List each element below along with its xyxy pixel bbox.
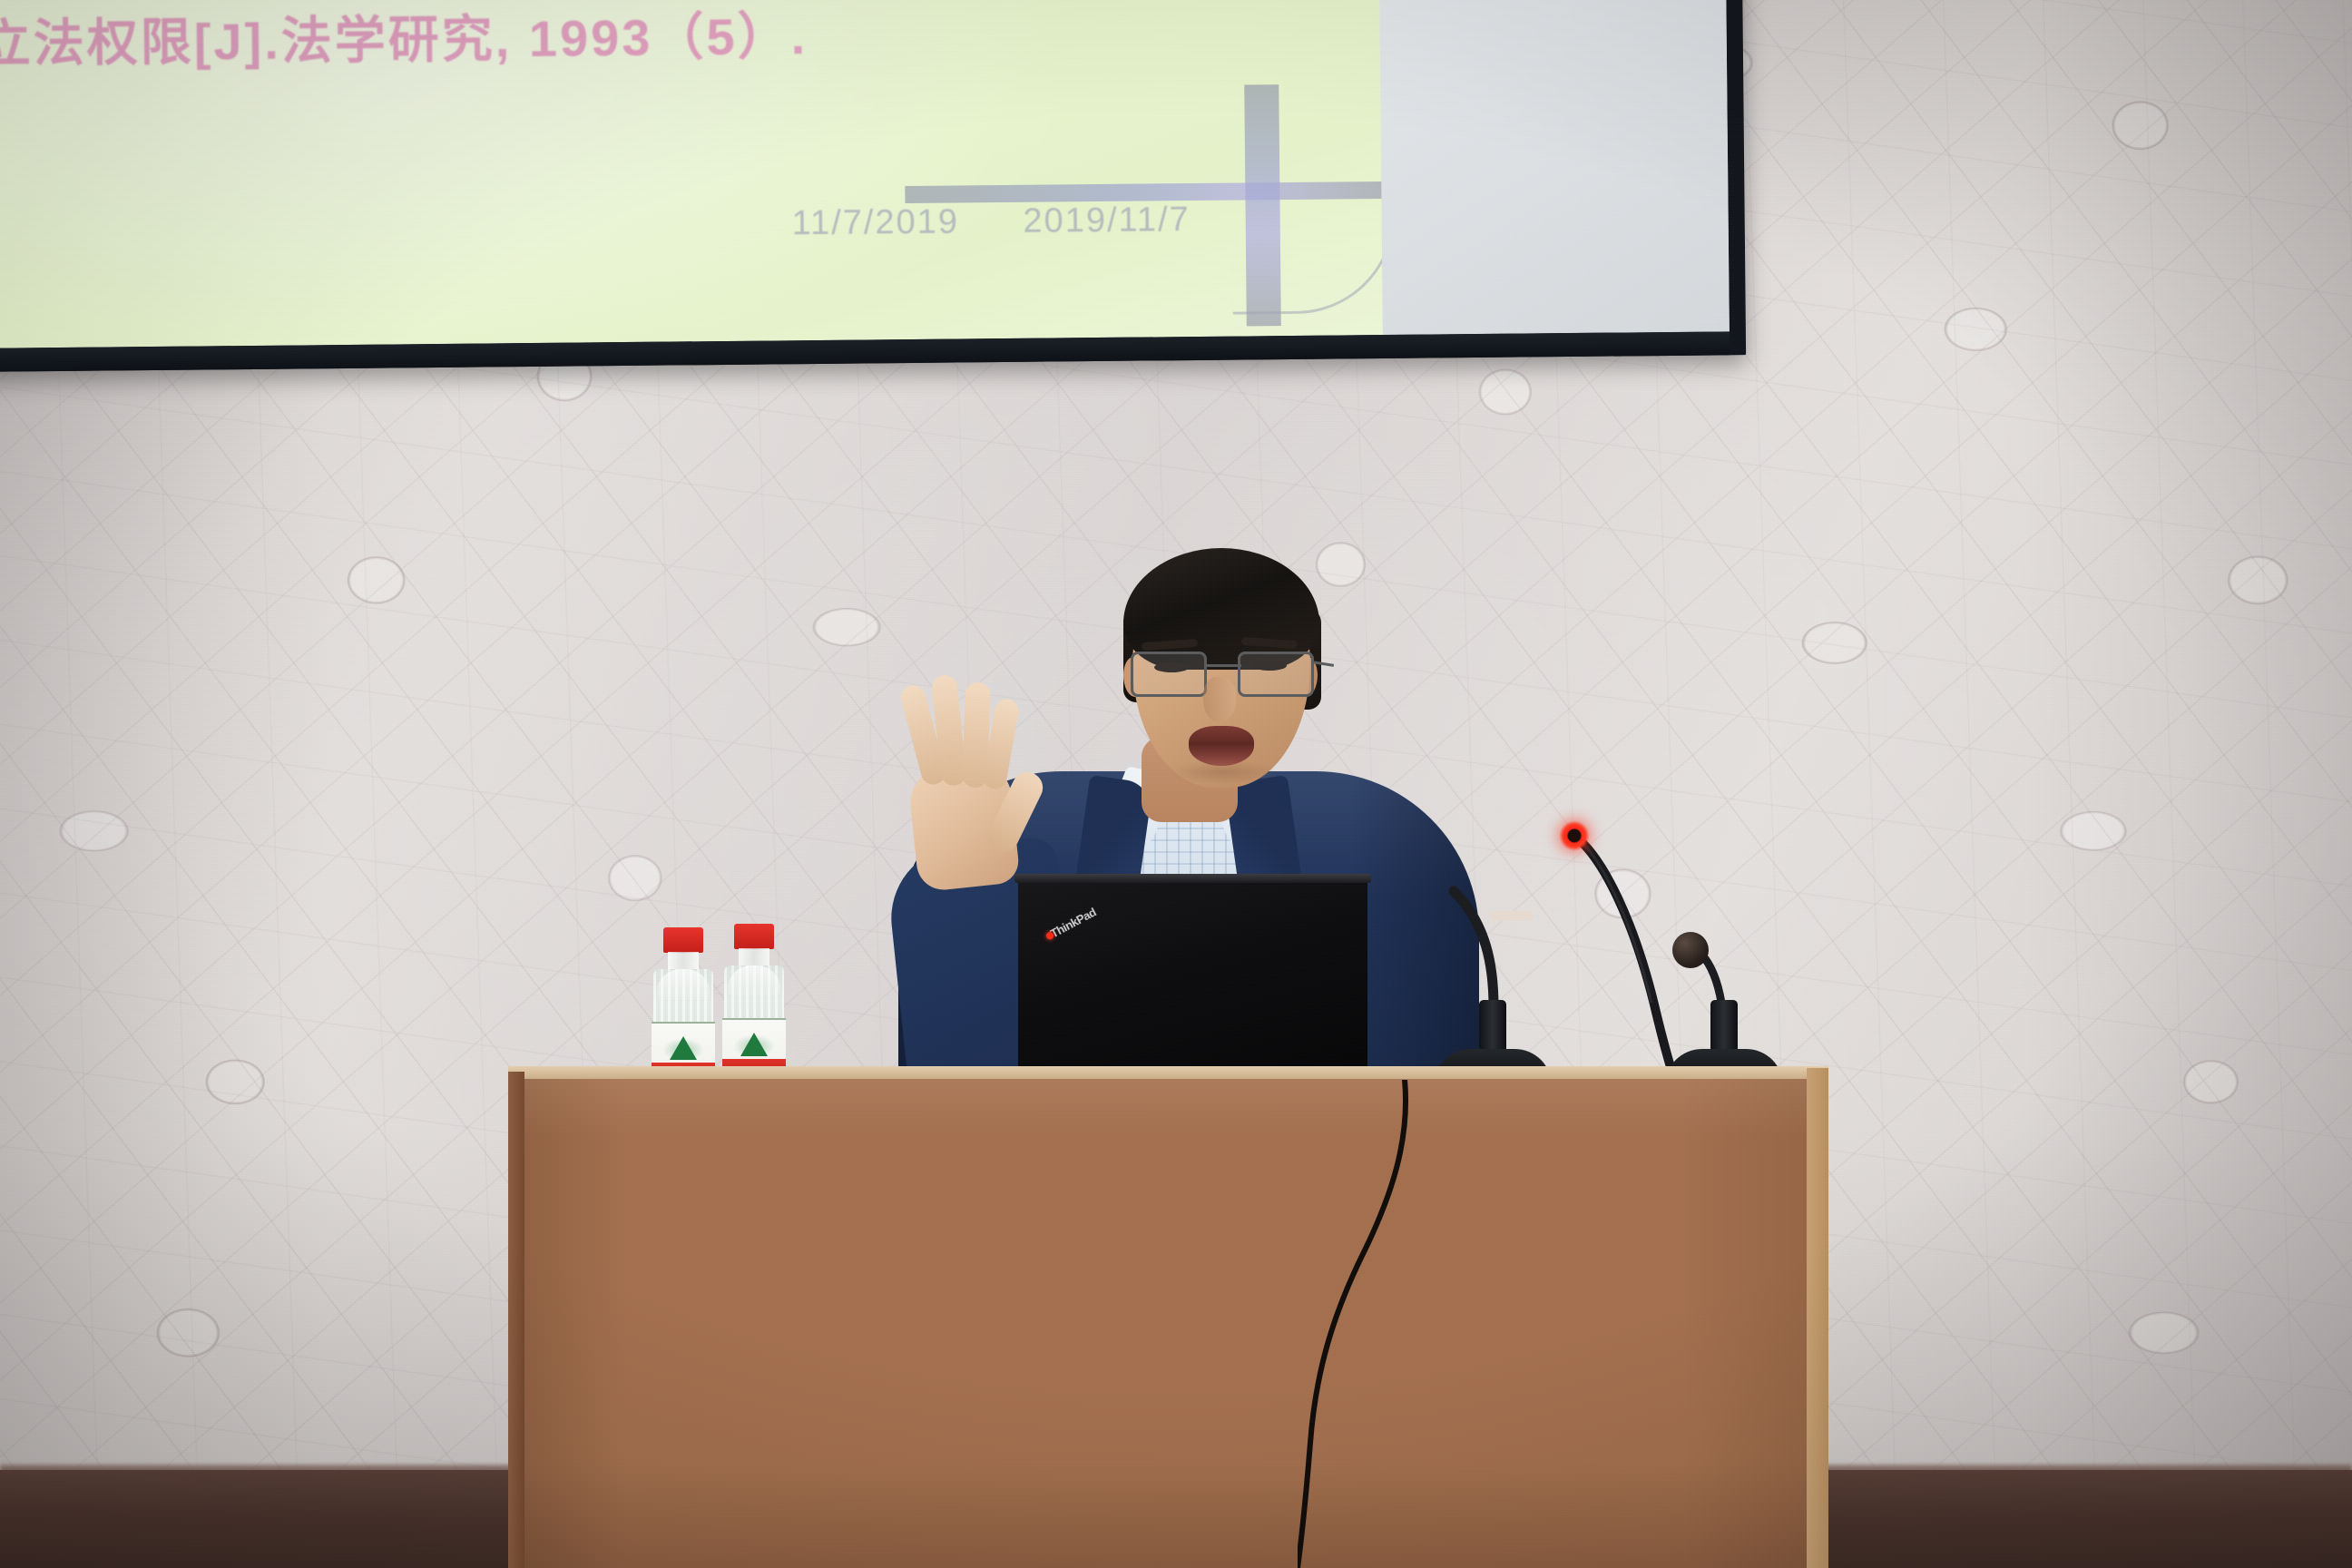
water-bottle-right: 娃哈哈 — [720, 924, 788, 1083]
thinkpad-logo: ThinkPad — [1048, 905, 1101, 943]
screen-frame: 立法权行使的制度 法权与立法权限[J].法学研究, 1993（5）. 11/7/… — [0, 0, 1746, 372]
bottle-cap-right — [734, 924, 774, 949]
slide-citation-line: 法权与立法权限[J].法学研究, 1993（5）. — [0, 0, 1226, 79]
slide-date-row: 11/7/2019 2019/11/7 — [791, 200, 1242, 243]
projection-screen: 立法权行使的制度 法权与立法权限[J].法学研究, 1993（5）. 11/7/… — [0, 0, 1742, 372]
lectern-right-edge — [1807, 1068, 1828, 1568]
nose — [1203, 677, 1236, 722]
thinkpad-laptop[interactable]: ThinkPad — [1018, 867, 1367, 1077]
lectern-left-edge — [508, 1072, 524, 1568]
projected-slide: 立法权行使的制度 法权与立法权限[J].法学研究, 1993（5）. 11/7/… — [0, 0, 1383, 348]
wooden-lectern — [508, 1066, 1828, 1568]
pine-tree-logo-icon-right — [740, 1033, 768, 1056]
slide-vertical-bar-decoration — [1244, 84, 1281, 326]
bottle-cap-left — [663, 927, 703, 953]
laptop-lid: ThinkPad — [1018, 874, 1367, 1077]
lectern-front-panel — [523, 1079, 1808, 1568]
screen-surface: 立法权行使的制度 法权与立法权限[J].法学研究, 1993（5）. 11/7/… — [0, 0, 1730, 348]
microphone-collar-right — [1710, 1000, 1738, 1053]
chin-shadow — [1171, 760, 1276, 784]
microphone-collar-left — [1479, 1000, 1506, 1053]
glasses-bridge — [1207, 664, 1241, 667]
lecture-scene: 立法权行使的制度 法权与立法权限[J].法学研究, 1993（5）. 11/7/… — [0, 0, 2352, 1568]
microphone-neck-left — [1434, 871, 1552, 1007]
glasses-temple — [1312, 661, 1334, 667]
laptop-top-bezel — [1014, 874, 1371, 883]
lectern-panel-shading — [523, 1079, 1808, 1568]
gooseneck-microphone-left — [1434, 871, 1552, 1089]
slide-date-left: 11/7/2019 — [791, 202, 959, 242]
glasses-lens-left — [1131, 652, 1207, 697]
thinkpad-logo-text: ThinkPad — [1048, 906, 1098, 941]
glasses-lens-right — [1238, 652, 1314, 697]
pine-tree-logo-icon-left — [670, 1036, 697, 1060]
screen-blank-area — [1379, 0, 1730, 335]
slide-date-right: 2019/11/7 — [1023, 201, 1191, 240]
microphone-active-led-icon — [1559, 820, 1590, 851]
water-bottle-left: 娃哈哈 — [650, 927, 717, 1086]
microphone-capsule-right — [1672, 932, 1709, 968]
raised-open-hand — [889, 681, 1042, 889]
